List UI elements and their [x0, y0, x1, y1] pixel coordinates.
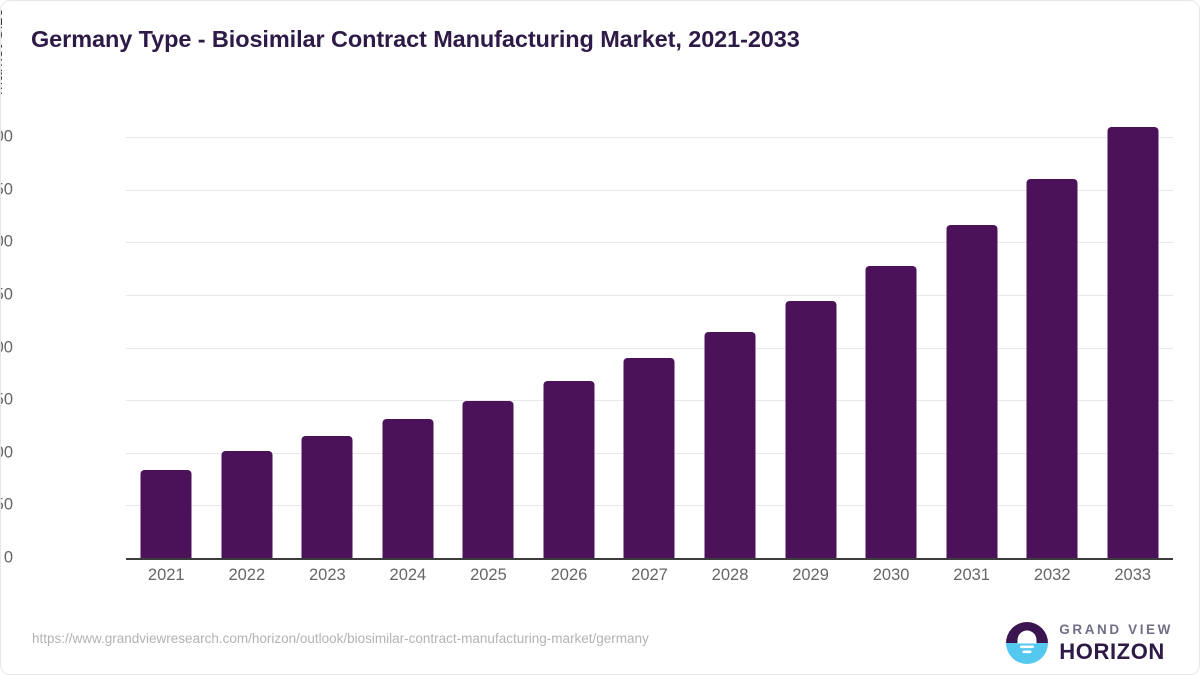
- x-tick-label: 2026: [524, 566, 614, 585]
- chart-page: Germany Type - Biosimilar Contract Manuf…: [0, 0, 1200, 675]
- bar-slot: [448, 111, 529, 558]
- y-tick-label: 1500: [0, 233, 13, 252]
- horizon-sun-circle-icon: [1005, 621, 1049, 665]
- x-tick-label: 2032: [1007, 566, 1097, 585]
- x-tick-label: 2033: [1088, 566, 1178, 585]
- y-tick-label: 0: [0, 549, 13, 568]
- bar[interactable]: [302, 436, 353, 558]
- bar-slot: [529, 111, 610, 558]
- y-tick-label: 250: [0, 496, 13, 515]
- x-tick-label: 2022: [202, 566, 292, 585]
- brand-logo: GRAND VIEW HORIZON: [1005, 621, 1173, 665]
- bar-series: [126, 111, 1173, 558]
- bar-slot: [690, 111, 771, 558]
- y-tick-label: 1250: [0, 286, 13, 305]
- bar-slot: [1012, 111, 1093, 558]
- brand-logo-text: GRAND VIEW HORIZON: [1059, 623, 1173, 663]
- bar[interactable]: [221, 451, 272, 558]
- x-tick-label: 2029: [766, 566, 856, 585]
- bar[interactable]: [624, 358, 675, 558]
- x-tick-label: 2028: [685, 566, 775, 585]
- bar-slot: [207, 111, 288, 558]
- bar[interactable]: [705, 332, 756, 558]
- bar-slot: [287, 111, 368, 558]
- x-tick-label: 2027: [605, 566, 695, 585]
- bar[interactable]: [866, 266, 917, 558]
- x-tick-label: 2021: [121, 566, 211, 585]
- bar[interactable]: [382, 419, 433, 558]
- bar[interactable]: [785, 301, 836, 558]
- y-tick-label: 1750: [0, 180, 13, 199]
- x-tick-label: 2031: [927, 566, 1017, 585]
- y-tick-label: 2000: [0, 128, 13, 147]
- bar[interactable]: [141, 470, 192, 558]
- x-axis-line: [126, 558, 1173, 560]
- bar-slot: [931, 111, 1012, 558]
- x-tick-label: 2025: [443, 566, 533, 585]
- y-tick-label: 1000: [0, 338, 13, 357]
- x-tick-label: 2030: [846, 566, 936, 585]
- bar[interactable]: [463, 401, 514, 558]
- y-tick-label: 500: [0, 443, 13, 462]
- x-tick-label: 2023: [282, 566, 372, 585]
- bar-slot: [126, 111, 207, 558]
- bar[interactable]: [1027, 179, 1078, 558]
- bar-slot: [609, 111, 690, 558]
- bar[interactable]: [1107, 127, 1158, 558]
- bar[interactable]: [946, 225, 997, 558]
- bar-slot: [770, 111, 851, 558]
- bar-slot: [851, 111, 932, 558]
- y-tick-label: 750: [0, 391, 13, 410]
- y-axis-title: Market Size (US$M): [0, 0, 7, 181]
- source-url[interactable]: https://www.grandviewresearch.com/horizo…: [32, 631, 649, 646]
- bar-slot: [368, 111, 449, 558]
- brand-name-line1: GRAND VIEW: [1059, 623, 1173, 637]
- bar-slot: [1092, 111, 1173, 558]
- page-title: Germany Type - Biosimilar Contract Manuf…: [31, 26, 800, 53]
- bar[interactable]: [543, 381, 594, 558]
- brand-name-line2: HORIZON: [1059, 641, 1173, 663]
- x-tick-label: 2024: [363, 566, 453, 585]
